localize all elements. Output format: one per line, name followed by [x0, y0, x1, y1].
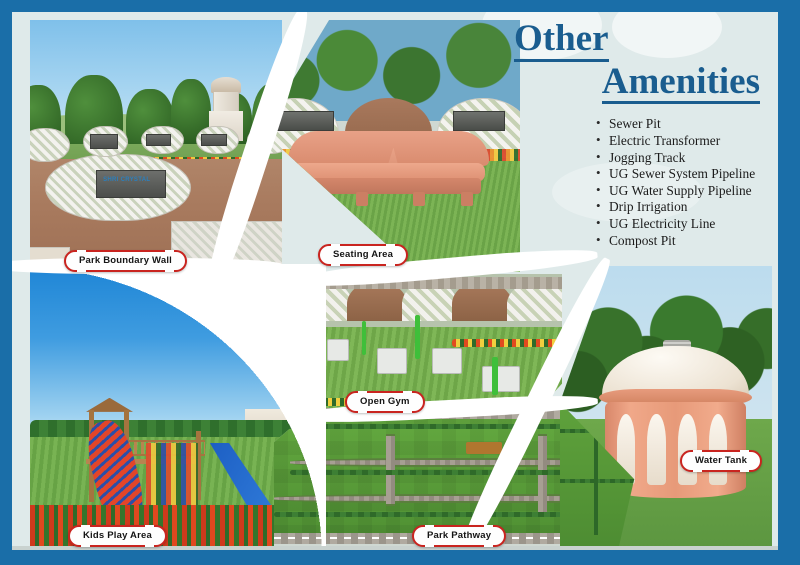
flower-bed	[452, 339, 562, 347]
gym-equipment-post	[362, 321, 366, 355]
list-item: UG Electricity Line	[596, 216, 778, 233]
gym-equipment	[327, 339, 349, 361]
label-park-boundary-wall[interactable]: Park Boundary Wall	[64, 250, 187, 272]
wall-plaque	[453, 111, 505, 131]
amenities-list: Sewer Pit Electric Transformer Jogging T…	[596, 116, 778, 249]
gym-equipment	[377, 348, 407, 374]
label-kids-play-area[interactable]: Kids Play Area	[68, 525, 167, 547]
lattice-panel	[171, 221, 282, 278]
stone-bench	[288, 131, 489, 207]
project-sign-text: SHRI CRYSTAL	[103, 177, 150, 183]
page-title-line2: Amenities	[602, 63, 760, 105]
list-item: Electric Transformer	[596, 133, 778, 150]
poster-inner-panel: SHRI CRYSTAL	[12, 12, 778, 550]
list-item: Drip Irrigation	[596, 199, 778, 216]
gym-equipment-post	[492, 357, 498, 395]
play-equipment	[466, 442, 502, 454]
photo-water-tank[interactable]	[560, 266, 778, 550]
wall-plaque	[146, 134, 171, 147]
photo-park-boundary-wall[interactable]: SHRI CRYSTAL	[30, 20, 282, 278]
label-park-pathway[interactable]: Park Pathway	[412, 525, 506, 547]
label-open-gym[interactable]: Open Gym	[345, 391, 425, 413]
list-item: UG Sewer System Pipeline	[596, 166, 778, 183]
gym-equipment-post	[415, 315, 420, 359]
wall-plaque	[201, 134, 226, 147]
amenities-poster: SHRI CRYSTAL	[0, 0, 800, 565]
wall-plaque	[277, 111, 334, 131]
label-seating-area[interactable]: Seating Area	[318, 244, 408, 266]
perimeter-path	[312, 277, 562, 289]
list-item: Compost Pit	[596, 233, 778, 250]
list-item: Jogging Track	[596, 150, 778, 167]
photo-seating-area[interactable]	[262, 20, 520, 272]
amenities-text-column: Other Amenities Sewer Pit Electric Trans…	[504, 20, 778, 270]
gym-equipment	[432, 348, 462, 374]
list-item: Sewer Pit	[596, 116, 778, 133]
label-water-tank[interactable]: Water Tank	[680, 450, 762, 472]
gym-equipment	[482, 366, 520, 392]
page-title: Other Amenities	[504, 20, 778, 104]
page-title-line1: Other	[514, 20, 609, 62]
wall-plaque	[90, 134, 118, 149]
list-item: UG Water Supply Pipeline	[596, 183, 778, 200]
climbing-wall	[146, 443, 198, 511]
wall-plaque	[96, 170, 167, 198]
